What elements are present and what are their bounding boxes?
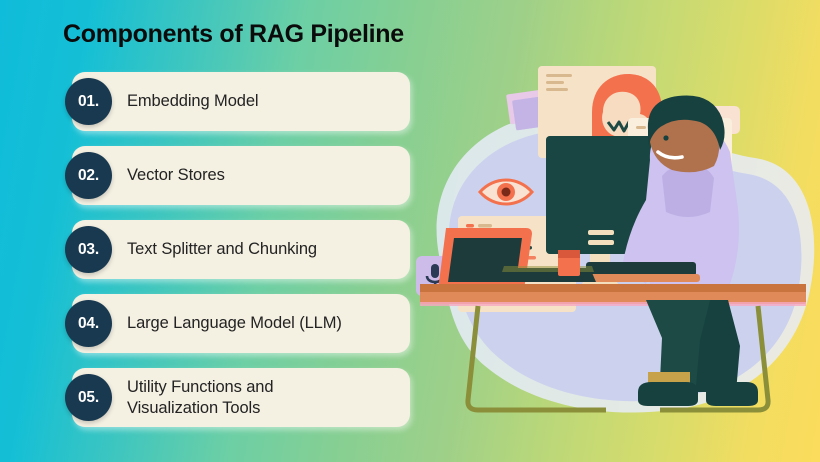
component-card[interactable]: Vector Stores [72,146,410,205]
list-item[interactable]: Utility Functions andVisualization Tools… [0,368,420,427]
list-item[interactable]: Vector Stores 02. [0,146,420,205]
components-list: Embedding Model 01. Vector Stores 02. Te… [0,72,420,442]
component-number-badge: 01. [65,78,112,125]
component-card[interactable]: Text Splitter and Chunking [72,220,410,279]
component-card[interactable]: Large Language Model (LLM) [72,294,410,353]
list-item[interactable]: Embedding Model 01. [0,72,420,131]
component-number-badge: 02. [65,152,112,199]
cup [558,250,580,276]
component-label: Text Splitter and Chunking [127,239,317,260]
component-number-badge: 05. [65,374,112,421]
list-item[interactable]: Text Splitter and Chunking 03. [0,220,420,279]
component-label: Embedding Model [127,91,259,112]
component-label: Large Language Model (LLM) [127,313,342,334]
page-title: Components of RAG Pipeline [63,20,404,49]
slide-root: Components of RAG Pipeline Embedding Mod… [0,0,820,462]
list-item[interactable]: Large Language Model (LLM) 04. [0,294,420,353]
illustration [410,0,820,462]
component-number-badge: 04. [65,300,112,347]
component-number-badge: 03. [65,226,112,273]
component-card[interactable]: Utility Functions andVisualization Tools [72,368,410,427]
component-card[interactable]: Embedding Model [72,72,410,131]
component-label: Vector Stores [127,165,225,186]
component-label: Utility Functions andVisualization Tools [127,377,273,418]
eye-icon [480,180,532,204]
